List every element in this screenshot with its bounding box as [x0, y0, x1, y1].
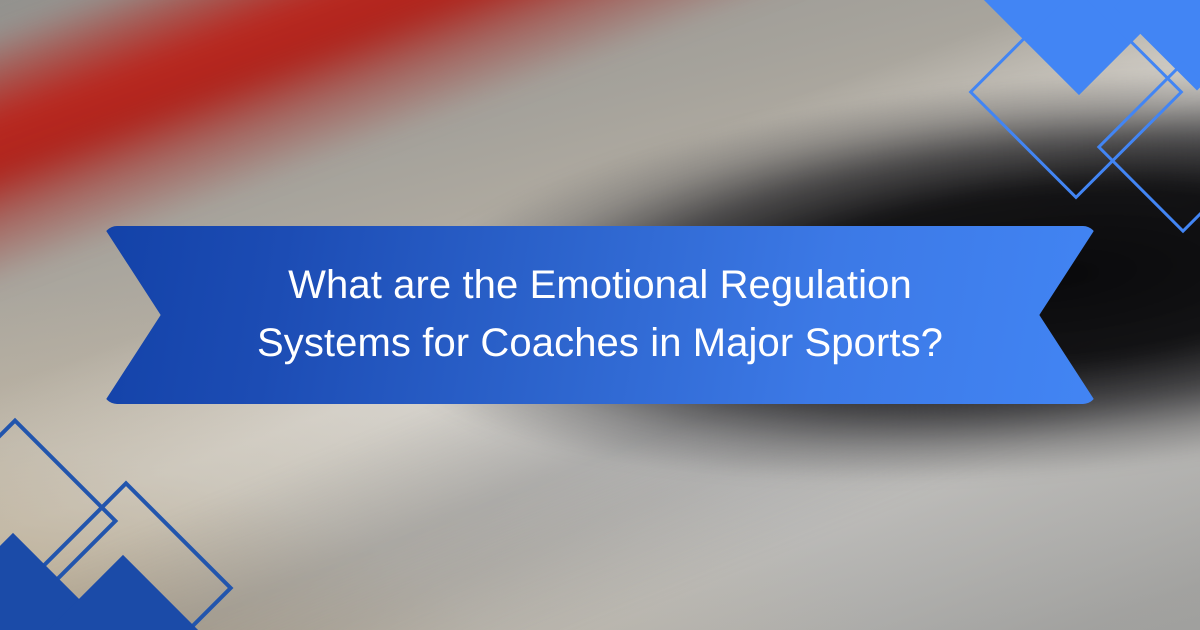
- title-banner: What are the Emotional Regulation System…: [103, 226, 1097, 404]
- title-card: What are the Emotional Regulation System…: [0, 0, 1200, 630]
- page-title: What are the Emotional Regulation System…: [220, 257, 980, 372]
- decoration-bottom-left: [0, 415, 245, 630]
- decoration-top-right: [970, 0, 1200, 230]
